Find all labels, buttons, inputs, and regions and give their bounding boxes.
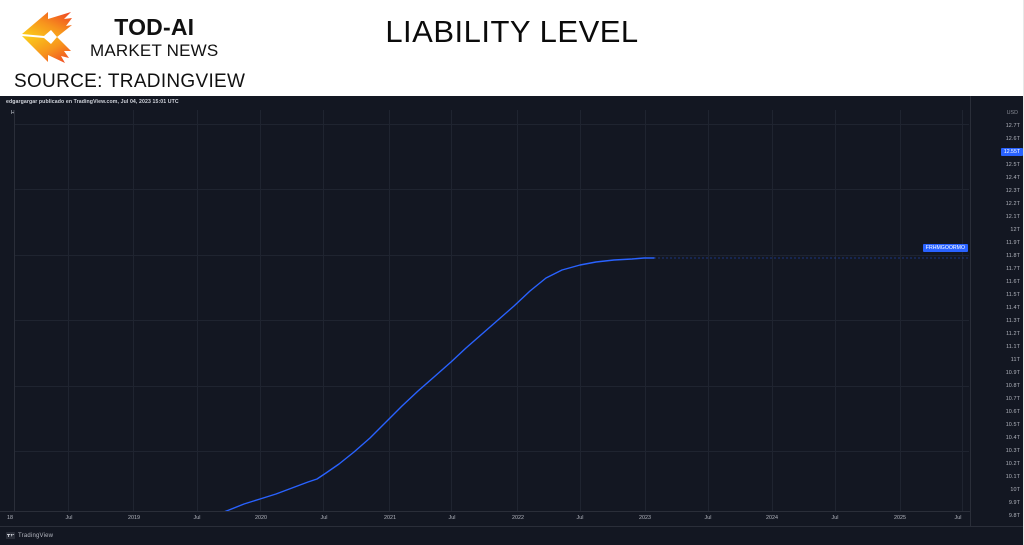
price-tick: 11.4T	[1006, 305, 1020, 311]
price-tick: 12.5T	[1006, 162, 1020, 168]
time-tick: 2019	[128, 515, 140, 521]
price-tick: 12.3T	[1006, 188, 1020, 194]
tradingview-logo-icon	[6, 532, 15, 539]
time-tick: Jul	[321, 515, 328, 521]
time-tick: Jul	[832, 515, 839, 521]
price-tick: 10.2T	[1006, 461, 1020, 467]
price-tick: 12.6T	[1006, 136, 1020, 142]
time-tick: 2021	[384, 515, 396, 521]
price-tick: 12T	[1010, 227, 1020, 233]
price-axis[interactable]: USD 12.7T 12.6T 12.5T 12.4T 12.3T 12.2T …	[970, 96, 1024, 545]
publisher-line: edgargargar publicado en TradingView.com…	[6, 98, 1024, 107]
time-tick: Jul	[449, 515, 456, 521]
page-header: TOD-AI MARKET NEWS LIABILITY LEVEL SOURC…	[0, 0, 1024, 96]
chart-footer: TradingView	[0, 526, 1024, 545]
price-tick: 10.5T	[1006, 422, 1020, 428]
price-tick: 11.6T	[1006, 279, 1020, 285]
plot-left-border	[14, 110, 15, 511]
price-tick: 12.7T	[1006, 123, 1020, 129]
price-tick: 11.8T	[1006, 253, 1020, 259]
time-tick: 18	[7, 515, 13, 521]
time-tick: 2025	[894, 515, 906, 521]
tradingview-watermark[interactable]: TradingView	[6, 532, 53, 539]
price-tick: 12.2T	[1006, 201, 1020, 207]
price-tick: 10.8T	[1006, 383, 1020, 389]
current-price-badge[interactable]: 12.55T	[1001, 148, 1023, 156]
time-tick: 2023	[639, 515, 651, 521]
symbol-price-tag[interactable]: FRHMGOORMO	[923, 244, 968, 252]
price-tick: 10.1T	[1006, 474, 1020, 480]
time-tick: Jul	[194, 515, 201, 521]
price-tick: 9.9T	[1009, 500, 1020, 506]
price-tick: 10.4T	[1006, 435, 1020, 441]
price-tick: 11.5T	[1006, 292, 1020, 298]
price-tick: 11.9T	[1006, 240, 1020, 246]
time-tick: 2022	[512, 515, 524, 521]
page-title: LIABILITY LEVEL	[0, 14, 1024, 50]
price-tick: 11.3T	[1006, 318, 1020, 324]
price-tick: 12.1T	[1006, 214, 1020, 220]
time-tick: 2020	[255, 515, 267, 521]
source-label: SOURCE: TRADINGVIEW	[14, 71, 245, 93]
price-axis-unit: USD	[1007, 110, 1018, 116]
price-tick: 10T	[1010, 487, 1020, 493]
time-tick: Jul	[66, 515, 73, 521]
price-tick: 11.2T	[1006, 331, 1020, 337]
tradingview-chart[interactable]: edgargargar publicado en TradingView.com…	[0, 96, 1024, 545]
price-tick: 11.7T	[1006, 266, 1020, 272]
price-tick: 10.3T	[1006, 448, 1020, 454]
time-tick: Jul	[577, 515, 584, 521]
price-tick: 11.1T	[1006, 344, 1020, 350]
plot-area[interactable]	[14, 110, 969, 545]
price-tick: 10.6T	[1006, 409, 1020, 415]
time-tick: Jul	[705, 515, 712, 521]
price-tick: 10.9T	[1006, 370, 1020, 376]
price-tick: 9.8T	[1009, 513, 1020, 519]
time-tick: Jul	[955, 515, 962, 521]
tradingview-watermark-label: TradingView	[18, 533, 53, 539]
time-axis[interactable]: 18 Jul 2019 Jul 2020 Jul 2021 Jul 2022 J…	[0, 511, 970, 526]
price-tick: 12.4T	[1006, 175, 1020, 181]
price-tick: 10.7T	[1006, 396, 1020, 402]
time-tick: 2024	[766, 515, 778, 521]
price-tick: 11T	[1011, 357, 1020, 363]
current-price-line	[14, 110, 969, 545]
